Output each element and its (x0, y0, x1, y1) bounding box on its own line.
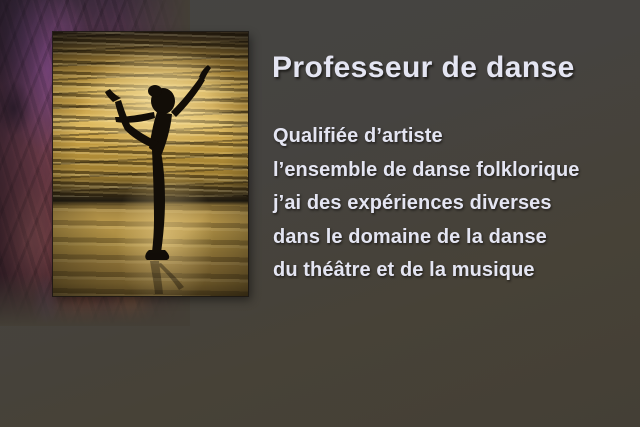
description-line: l’ensemble de danse folklorique (273, 154, 639, 188)
description-line: Qualifiée d’artiste (273, 120, 639, 154)
description-block: Qualifiée d’artiste l’ensemble de danse … (273, 120, 639, 288)
slide-canvas: Professeur de danse Qualifiée d’artiste … (0, 0, 640, 427)
description-line: j’ai des expériences diverses (273, 187, 639, 221)
text-column: Professeur de danse Qualifiée d’artiste … (272, 0, 640, 427)
page-title: Professeur de danse (272, 51, 575, 85)
dancer-photo (53, 32, 248, 296)
description-line: du théâtre et de la musique (273, 254, 639, 288)
photo-vignette (53, 32, 248, 296)
description-line: dans le domaine de la danse (273, 221, 639, 255)
